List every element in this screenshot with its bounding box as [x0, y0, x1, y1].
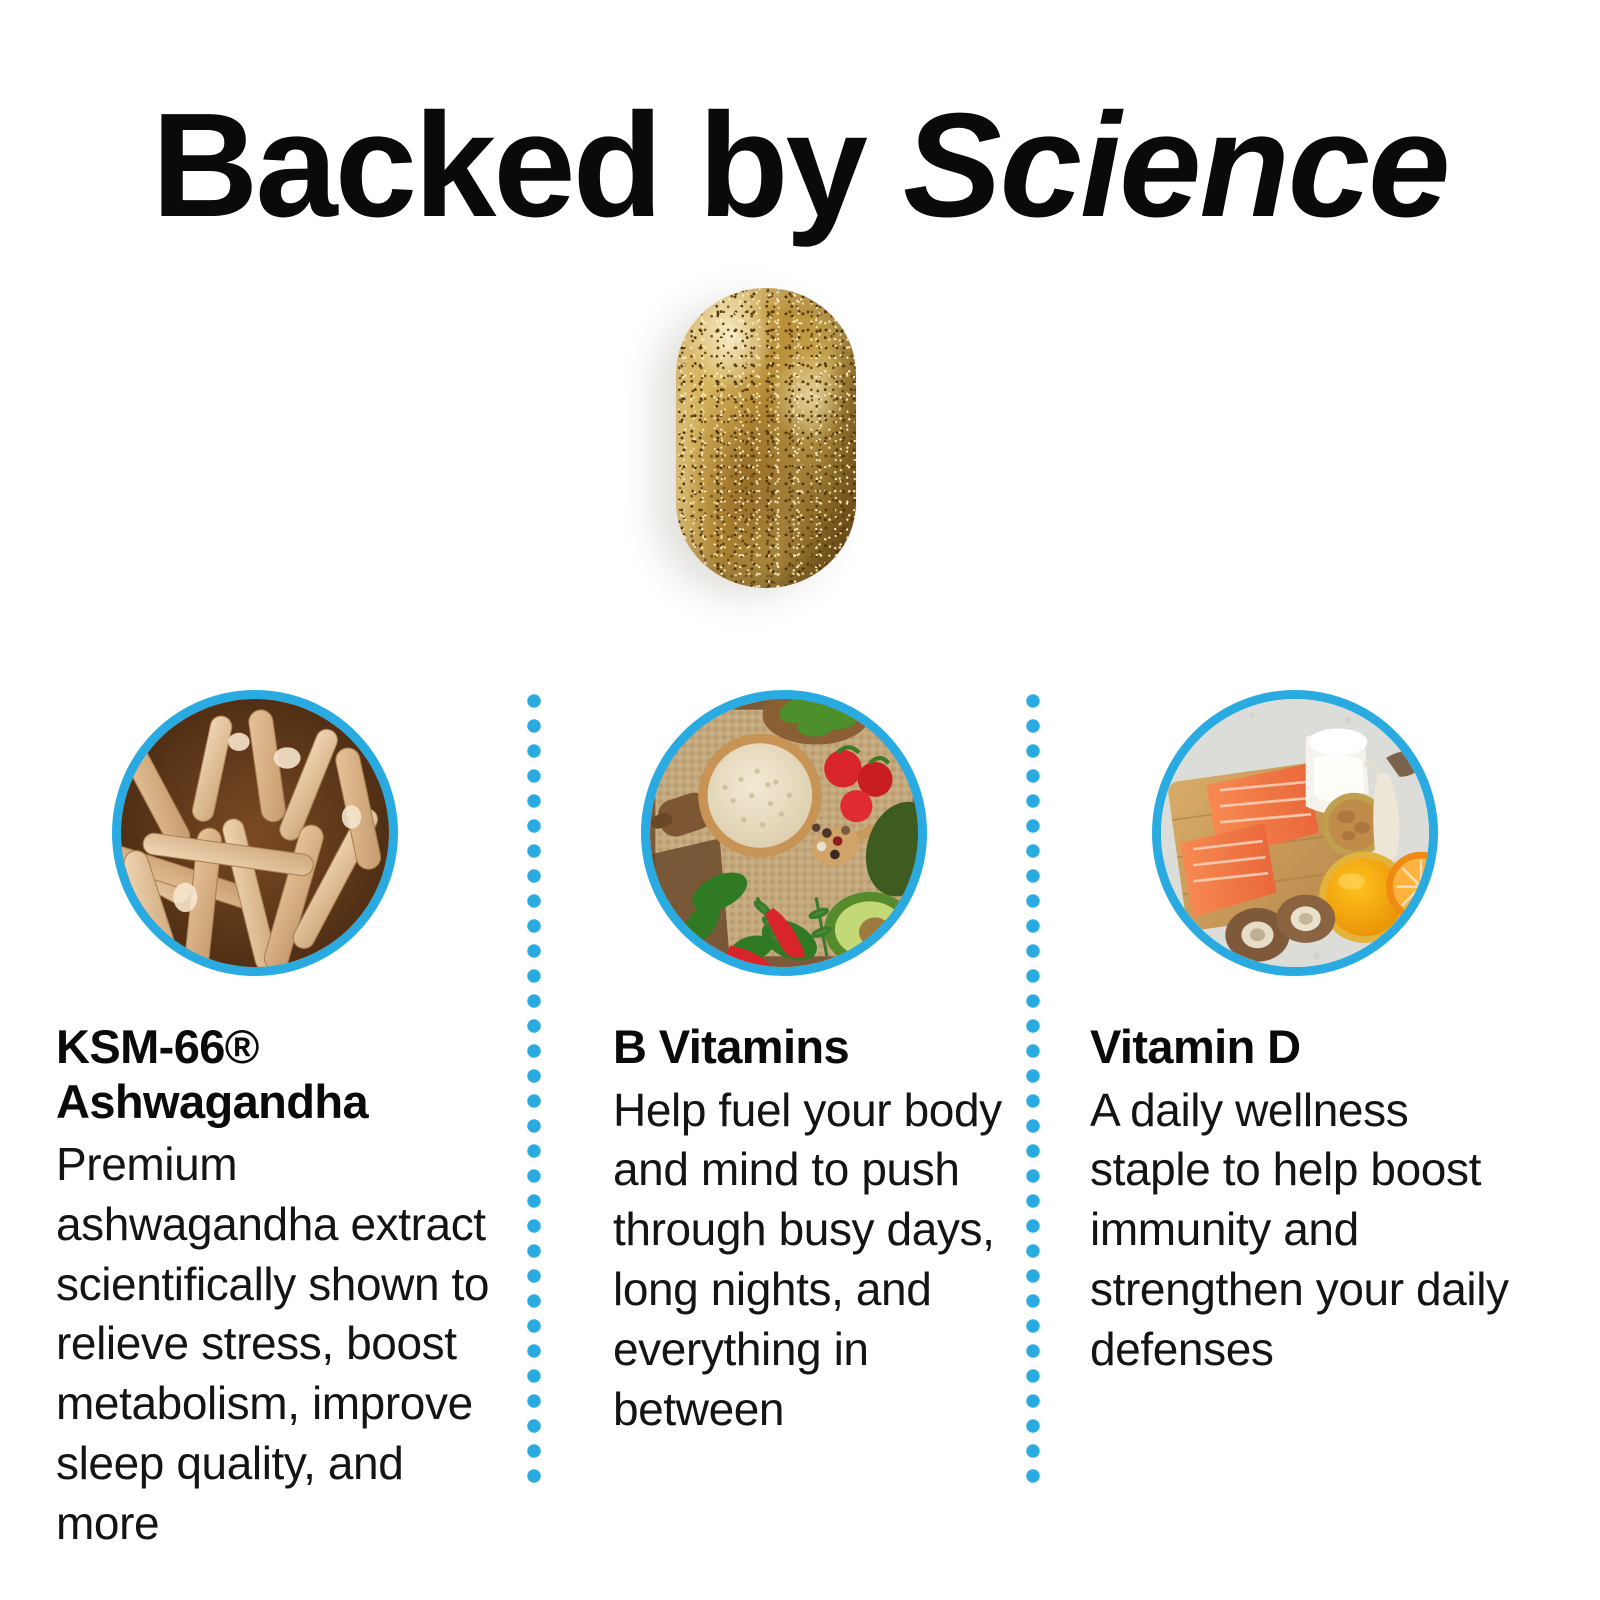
ashwagandha-roots-icon — [121, 699, 389, 967]
feature-body-ksm66: Premium ashwagandha extract scientifical… — [56, 1135, 504, 1554]
vitamin-d-foods-thumbnail — [1152, 690, 1438, 976]
feature-column-vitamin-d: Vitamin D A daily wellness staple to hel… — [1090, 690, 1538, 1380]
feature-body-vitamin-d: A daily wellness staple to help boost im… — [1090, 1081, 1538, 1380]
column-divider-1 — [527, 694, 541, 1494]
column-divider-2 — [1026, 694, 1040, 1494]
ashwagandha-roots-thumbnail — [112, 690, 398, 976]
hero-capsule-image — [676, 288, 856, 588]
feature-column-ksm66: KSM-66® Ashwagandha Premium ashwagandha … — [56, 690, 504, 1554]
golden-speckled-capsule-icon — [676, 288, 856, 588]
feature-column-b-vitamins: B Vitamins Help fuel your body and mind … — [613, 690, 1008, 1439]
page-title: Backed by Science — [0, 92, 1600, 240]
page-title-italic: Science — [903, 83, 1448, 248]
feature-title-vitamin-d: Vitamin D — [1090, 1020, 1538, 1075]
feature-title-ksm66: KSM-66® Ashwagandha — [56, 1020, 504, 1129]
salmon-milk-mushrooms-icon — [1161, 699, 1429, 967]
page-title-regular: Backed by — [152, 83, 903, 248]
feature-title-b-vitamins: B Vitamins — [613, 1020, 1008, 1075]
feature-body-b-vitamins: Help fuel your body and mind to push thr… — [613, 1081, 1008, 1440]
quinoa-vegetables-icon — [650, 699, 918, 967]
b-vitamins-foods-thumbnail — [641, 690, 927, 976]
